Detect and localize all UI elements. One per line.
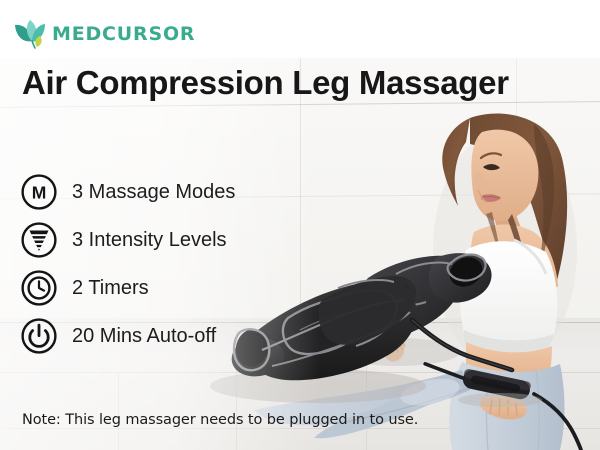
feature-label: 3 Intensity Levels bbox=[72, 230, 227, 250]
feature-label: 20 Mins Auto-off bbox=[72, 326, 216, 346]
disclaimer-note: Note: This leg massager needs to be plug… bbox=[22, 412, 418, 428]
product-advertisement: MEDCURSOR Air Compression Leg Massager M… bbox=[0, 0, 600, 450]
feature-label: 3 Massage Modes bbox=[72, 182, 235, 202]
feature-item-auto-off: 20 Mins Auto-off bbox=[20, 312, 320, 360]
leaf-lotus-icon bbox=[12, 18, 48, 50]
feature-item-massage-modes: M 3 Massage Modes bbox=[20, 168, 320, 216]
brand-logo: MEDCURSOR bbox=[12, 17, 195, 51]
clock-timer-icon bbox=[20, 269, 58, 307]
feature-item-intensity-levels: 3 Intensity Levels bbox=[20, 216, 320, 264]
intensity-funnel-icon bbox=[20, 221, 58, 259]
page-title: Air Compression Leg Massager bbox=[22, 65, 582, 101]
feature-item-timers: 2 Timers bbox=[20, 264, 320, 312]
brand-name: MEDCURSOR bbox=[52, 25, 195, 44]
feature-label: 2 Timers bbox=[72, 278, 149, 298]
svg-text:M: M bbox=[32, 183, 47, 203]
power-auto-off-icon bbox=[20, 317, 58, 355]
massage-mode-m-icon: M bbox=[20, 173, 58, 211]
feature-list: M 3 Massage Modes 3 Intensity Levels bbox=[20, 168, 320, 360]
